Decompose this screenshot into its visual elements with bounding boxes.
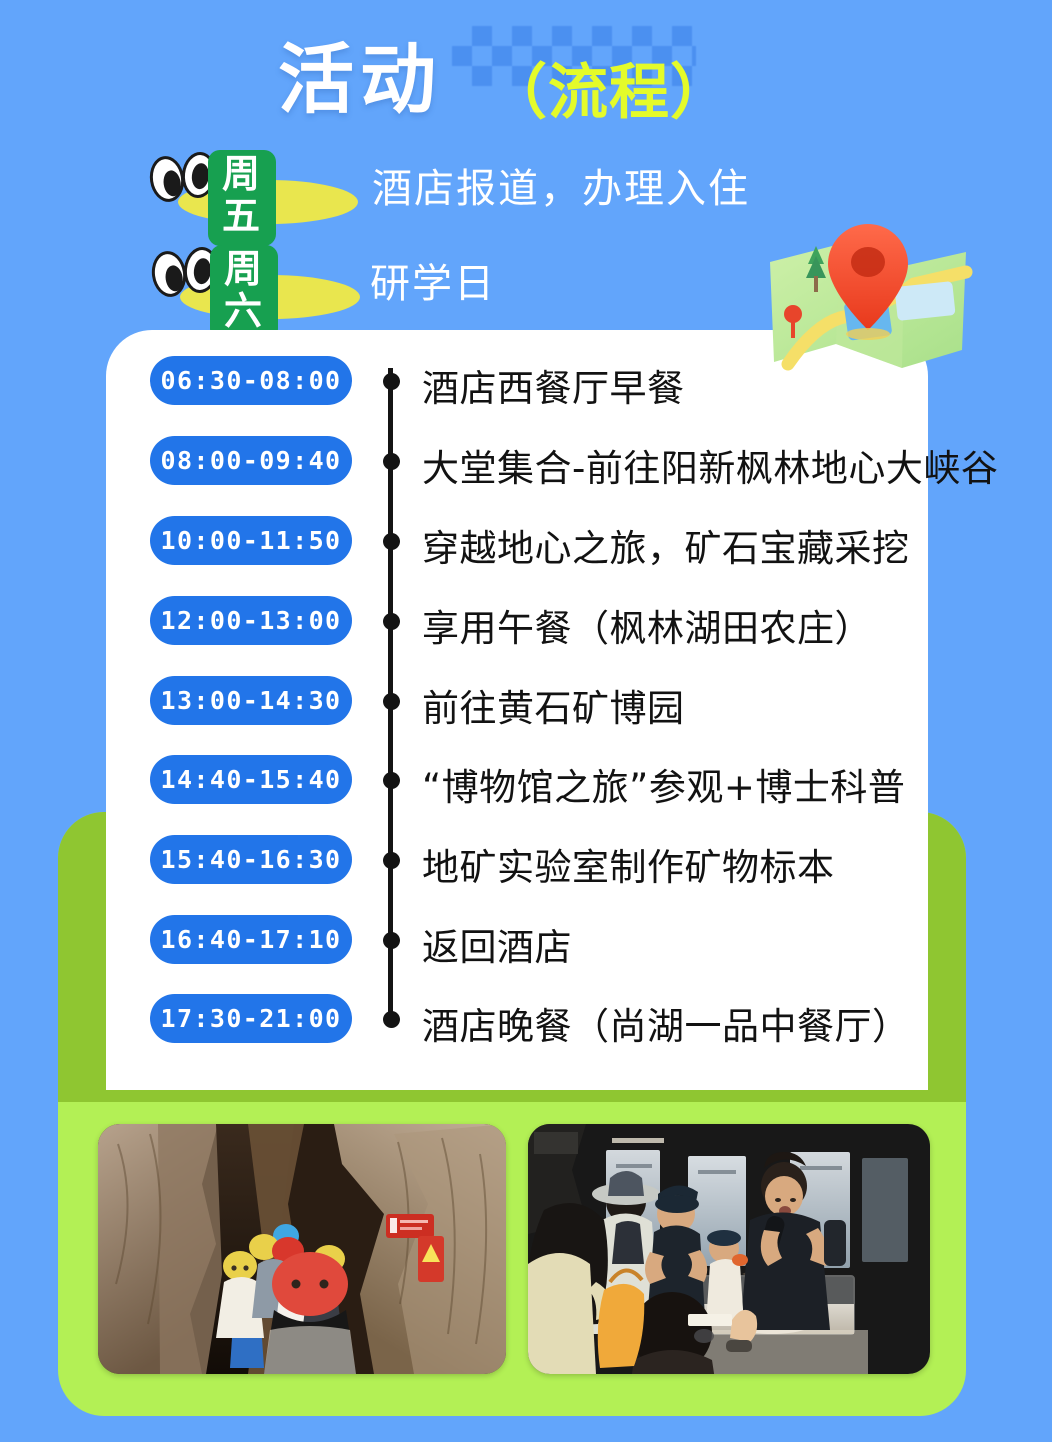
timeline-dot: [383, 613, 400, 630]
day-description: 研学日: [370, 251, 496, 309]
time-badge: 17:30-21:00: [150, 994, 352, 1043]
activity-label: 酒店晚餐（尚湖一品中餐厅）: [422, 996, 910, 1050]
timeline-dot: [383, 772, 400, 789]
timeline-dot: [383, 852, 400, 869]
day-badge-label: 周六: [210, 245, 278, 341]
time-badge: 16:40-17:10: [150, 915, 352, 964]
activity-label: 地矿实验室制作矿物标本: [422, 837, 835, 891]
page-title: 活动: [278, 18, 442, 128]
time-badge: 10:00-11:50: [150, 516, 352, 565]
timeline-dot: [383, 693, 400, 710]
activity-label: 大堂集合-前往阳新枫林地心大峡谷: [422, 438, 998, 492]
map-pin-illustration: [762, 222, 974, 390]
timeline-dot: [383, 932, 400, 949]
activity-label: 享用午餐（枫林湖田农庄）: [422, 598, 872, 652]
cave-exploration-photo: [98, 1124, 506, 1374]
timeline-dot: [383, 533, 400, 550]
activity-label: 前往黄石矿博园: [422, 678, 685, 732]
time-badge: 12:00-13:00: [150, 596, 352, 645]
day-description: 酒店报道，办理入住: [372, 156, 750, 214]
time-badge: 06:30-08:00: [150, 356, 352, 405]
activity-label: 酒店西餐厅早餐: [422, 358, 685, 412]
activity-label: 返回酒店: [422, 917, 572, 971]
time-badge: 14:40-15:40: [150, 755, 352, 804]
title-section: 活动 （流程）: [0, 0, 1052, 140]
timeline-dot: [383, 373, 400, 390]
time-badge: 13:00-14:30: [150, 676, 352, 725]
time-badge: 15:40-16:30: [150, 835, 352, 884]
page-subtitle: （流程）: [487, 44, 731, 131]
time-badge: 08:00-09:40: [150, 436, 352, 485]
timeline-dot: [383, 1011, 400, 1028]
museum-tour-photo: [528, 1124, 930, 1374]
activity-label: “博物馆之旅”参观+博士科普: [422, 757, 905, 811]
activity-label: 穿越地心之旅，矿石宝藏采挖: [422, 518, 910, 572]
poster-root: 活动 （流程） 周五 酒店报道，办理入住 周六 研学日: [0, 0, 1052, 1442]
day-badge-label: 周五: [208, 150, 276, 246]
timeline-dot: [383, 453, 400, 470]
